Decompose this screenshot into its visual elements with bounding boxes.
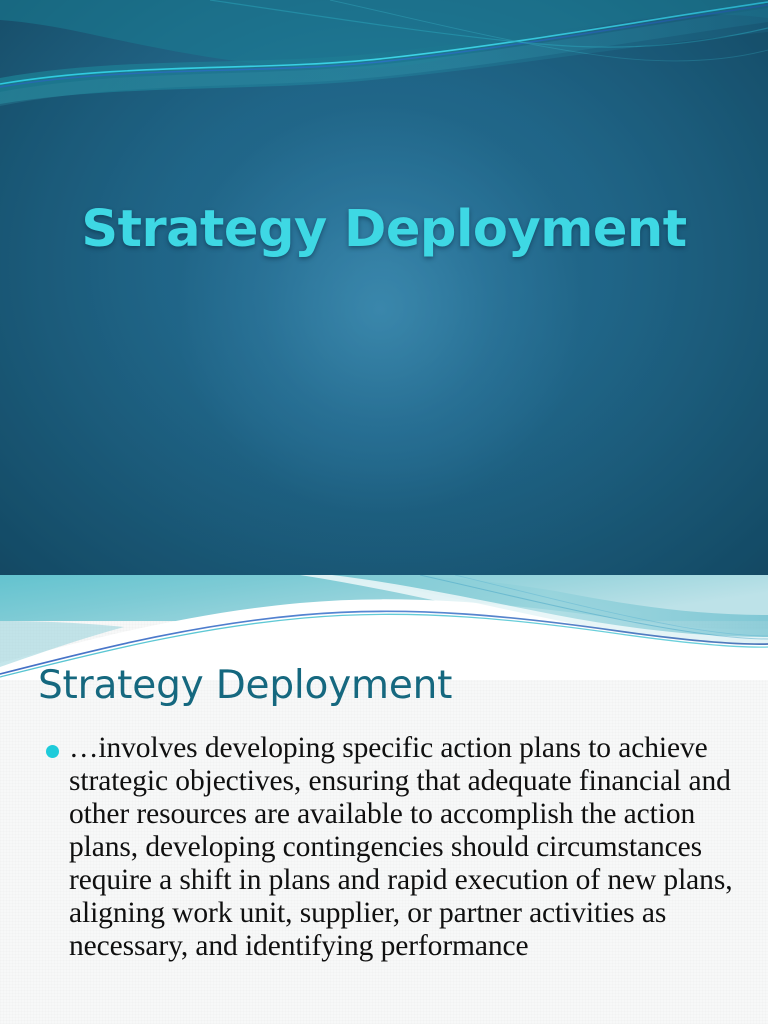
content-slide-heading: Strategy Deployment: [38, 663, 452, 708]
bullet-text: …involves developing specific action pla…: [69, 732, 746, 963]
presentation-deck: Strategy Deployment: [0, 0, 768, 1024]
title-slide-wave-decoration: [0, 0, 768, 575]
bullet-dot-icon: [46, 745, 59, 758]
bullet-list-item: …involves developing specific action pla…: [46, 732, 746, 963]
title-slide-title: Strategy Deployment: [0, 200, 768, 259]
content-slide: Strategy Deployment …involves developing…: [0, 575, 768, 1024]
title-slide: Strategy Deployment: [0, 0, 768, 575]
